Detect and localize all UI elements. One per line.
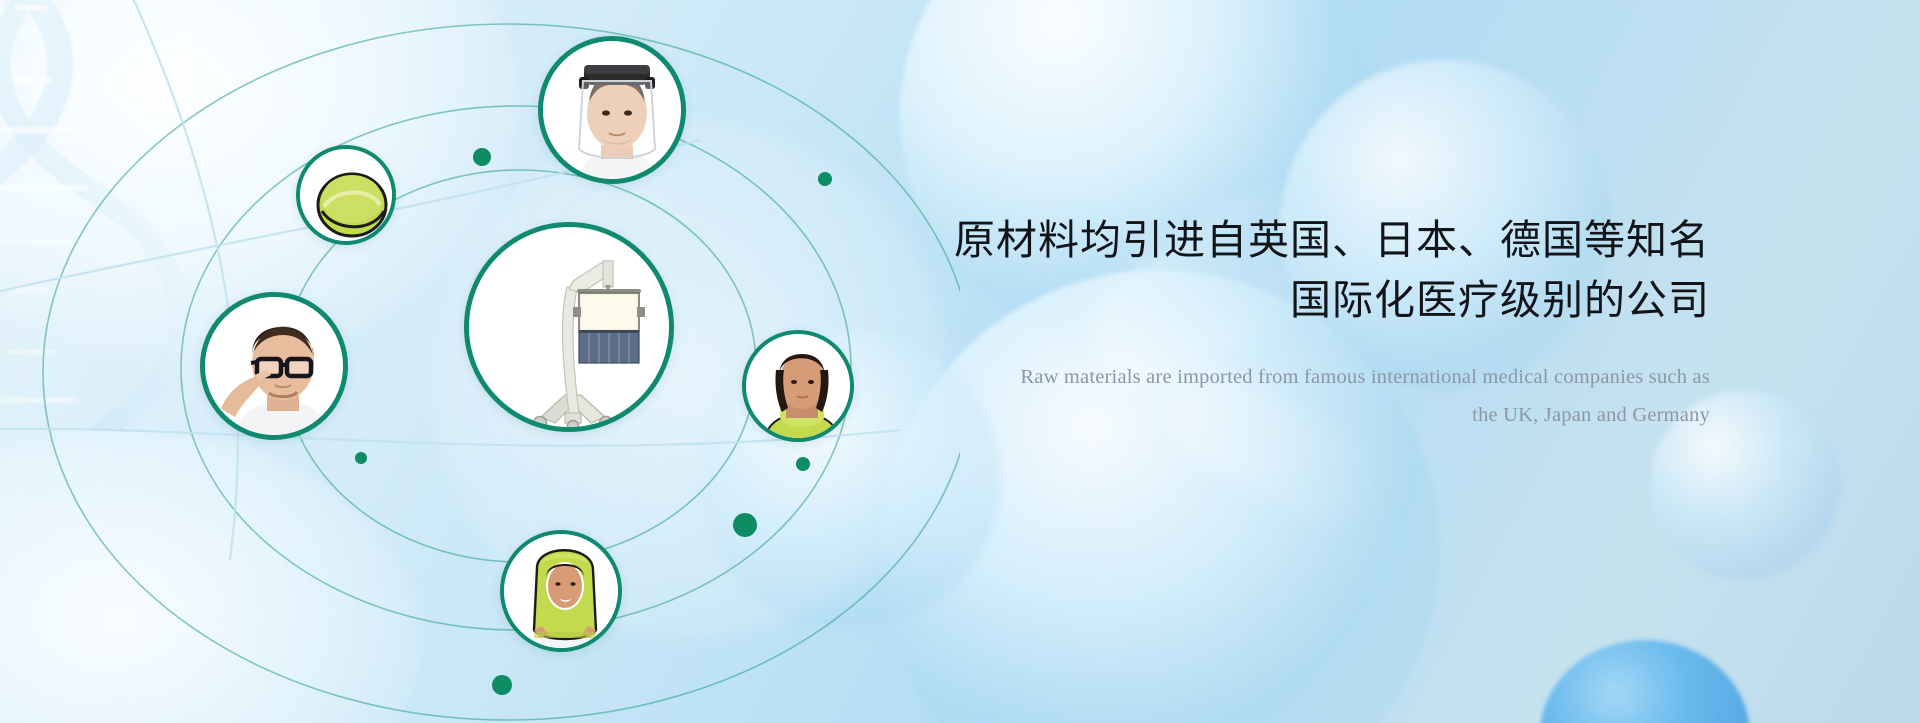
thyroid-collar-woman-photo bbox=[746, 334, 850, 438]
orbit-dot-3 bbox=[355, 452, 367, 464]
face-shield-man-photo bbox=[543, 41, 681, 179]
subtitle-line-1: Raw materials are imported from famous i… bbox=[880, 358, 1710, 396]
headline-line-1: 原材料均引进自英国、日本、德国等知名 bbox=[954, 217, 1710, 263]
bubble-lead-hood-woman[interactable] bbox=[500, 530, 622, 652]
bubble-lead-cap[interactable] bbox=[296, 145, 396, 245]
orbit-dot-6 bbox=[492, 675, 512, 695]
headline-line-2: 国际化医疗级别的公司 bbox=[880, 270, 1710, 330]
lead-glasses-man-photo bbox=[205, 297, 343, 435]
banner-headline: 原材料均引进自英国、日本、德国等知名 国际化医疗级别的公司 bbox=[880, 210, 1710, 330]
mobile-radiation-shield-photo bbox=[469, 227, 669, 427]
hero-banner: 原材料均引进自英国、日本、德国等知名 国际化医疗级别的公司 Raw materi… bbox=[0, 0, 1920, 723]
bubble-mobile-radiation-shield[interactable] bbox=[464, 222, 674, 432]
lead-hood-woman-photo bbox=[504, 534, 618, 648]
bubble-lead-glasses-man[interactable] bbox=[200, 292, 348, 440]
subtitle-line-2: the UK, Japan and Germany bbox=[880, 396, 1710, 434]
bubble-thyroid-collar-woman[interactable] bbox=[742, 330, 854, 442]
orbit-dot-1 bbox=[473, 148, 491, 166]
bubble-face-shield-man[interactable] bbox=[538, 36, 686, 184]
lead-cap-photo bbox=[300, 149, 392, 241]
background-sphere-blue-bottom-right bbox=[1540, 640, 1750, 723]
banner-subtitle-en: Raw materials are imported from famous i… bbox=[880, 358, 1710, 434]
orbit-dot-2 bbox=[818, 172, 832, 186]
orbit-dot-4 bbox=[796, 457, 810, 471]
orbit-dot-5 bbox=[733, 513, 757, 537]
background-cloud-bottom-left bbox=[0, 430, 420, 723]
banner-text-block: 原材料均引进自英国、日本、德国等知名 国际化医疗级别的公司 Raw materi… bbox=[880, 210, 1710, 434]
